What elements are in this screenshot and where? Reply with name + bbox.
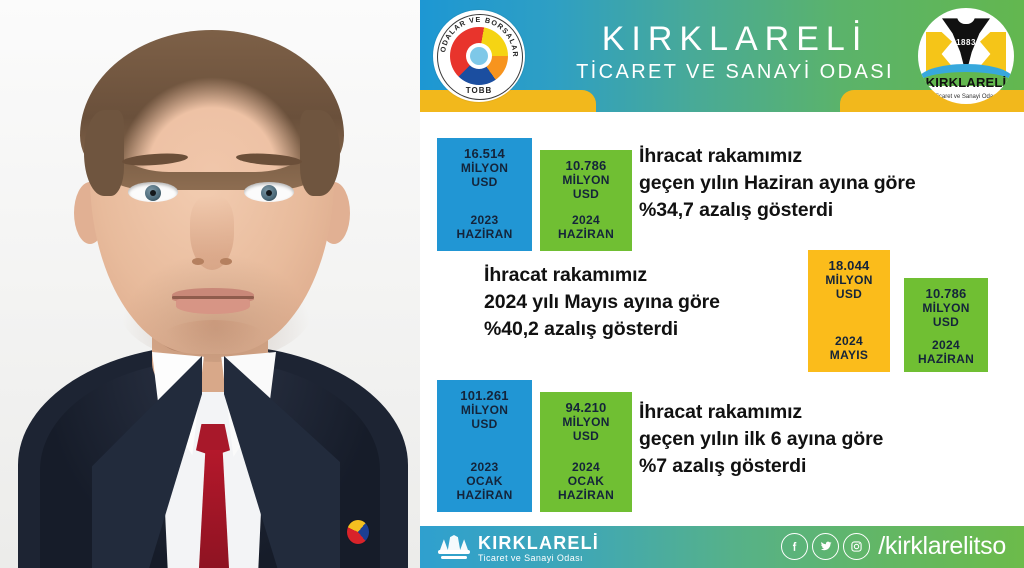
- bar-period-group: 2024 OCAK HAZİRAN: [558, 460, 614, 502]
- page-title: KIRKLARELİ: [560, 20, 910, 58]
- bar-period-group: 2024 MAYIS: [830, 334, 868, 362]
- hair-temple-right: [300, 110, 340, 196]
- bar-period-month: HAZİRAN: [456, 227, 512, 241]
- emblem-subtitle: Ticaret ve Sanayi Odası: [918, 94, 1014, 100]
- page-subtitle: TİCARET VE SANAYİ ODASI: [560, 60, 910, 84]
- footer-logo-bar-top: [438, 550, 470, 554]
- bar-unit-line1: MİLYON: [825, 273, 872, 287]
- bar-value-group: 10.786 MİLYON USD: [562, 158, 609, 201]
- bar-period-year: 2024: [932, 338, 960, 352]
- bar-value-group: 101.261 MİLYON USD: [460, 388, 508, 431]
- emblem-year: 1883: [942, 38, 990, 47]
- bar-2024-haziran-2: 10.786 MİLYON USD 2024 HAZİRAN: [904, 278, 988, 372]
- bar-amount: 16.514: [464, 146, 505, 161]
- bar-2023-ocak-haziran: 101.261 MİLYON USD 2023 OCAK HAZİRAN: [437, 380, 532, 512]
- bar-unit-line2: USD: [471, 417, 497, 431]
- footer-logo-crown: [440, 535, 468, 550]
- bar-period-month: HAZİRAN: [558, 227, 614, 241]
- bar-unit-line1: MİLYON: [922, 301, 969, 315]
- blurb-mayis-haziran: İhracat rakamımız 2024 yılı Mayıs ayına …: [484, 262, 720, 343]
- bar-unit-line1: MİLYON: [461, 403, 508, 417]
- bar-amount: 18.044: [829, 258, 870, 273]
- footer-logo-icon: [438, 533, 470, 561]
- bar-period-year: 2023: [471, 213, 499, 227]
- page-footer: KIRKLARELİ Ticaret ve Sanayi Odası /kirk…: [420, 526, 1024, 568]
- bar-period-group: 2023 HAZİRAN: [456, 213, 512, 241]
- blurb-line-2: geçen yılın ilk 6 ayına göre: [639, 426, 883, 453]
- blurb-line-1: İhracat rakamımız: [639, 399, 883, 426]
- bar-period-month-start: OCAK: [568, 474, 605, 488]
- emblem-name: KIRKLARELİ: [918, 75, 1014, 90]
- bar-amount: 94.210: [566, 400, 607, 415]
- bar-period-year: 2024: [572, 460, 600, 474]
- blurb-line-3: %34,7 azalış gösterdi: [639, 197, 916, 224]
- bar-period-group: 2024 HAZİRAN: [558, 213, 614, 241]
- bar-value-group: 94.210 MİLYON USD: [562, 400, 609, 443]
- bar-period-year: 2024: [835, 334, 863, 348]
- bar-period-month: HAZİRAN: [918, 352, 974, 366]
- blurb-ilk-alti-ay: İhracat rakamımız geçen yılın ilk 6 ayın…: [639, 399, 883, 480]
- nostril-left: [192, 258, 204, 265]
- bar-unit-line1: MİLYON: [461, 161, 508, 175]
- social-handle[interactable]: /kirklarelitso: [878, 532, 1006, 560]
- facebook-icon[interactable]: [781, 533, 808, 560]
- nostril-right: [220, 258, 232, 265]
- page-header: TÜRKİYE ODALAR VE BORSALAR BİRLİĞİ TOBB …: [420, 0, 1024, 112]
- bar-amount: 10.786: [926, 286, 967, 301]
- bar-unit-line2: USD: [573, 187, 599, 201]
- bar-period-group: 2023 OCAK HAZİRAN: [456, 460, 512, 502]
- blurb-line-2: geçen yılın Haziran ayına göre: [639, 170, 916, 197]
- blurb-line-3: %7 azalış gösterdi: [639, 453, 883, 480]
- mouth-line: [172, 296, 254, 299]
- tobb-logo: TÜRKİYE ODALAR VE BORSALAR BİRLİĞİ TOBB: [433, 10, 525, 102]
- blurb-line-3: %40,2 azalış gösterdi: [484, 316, 720, 343]
- bar-unit-line1: MİLYON: [562, 173, 609, 187]
- bar-2024-mayis: 18.044 MİLYON USD 2024 MAYIS: [808, 250, 890, 372]
- blurb-line-1: İhracat rakamımız: [484, 262, 720, 289]
- content-panel: TÜRKİYE ODALAR VE BORSALAR BİRLİĞİ TOBB …: [420, 0, 1024, 568]
- bar-unit-line1: MİLYON: [562, 415, 609, 429]
- tobb-abbreviation: TOBB: [433, 86, 525, 95]
- footer-logo-title: KIRKLARELİ: [478, 534, 599, 553]
- bar-period-month: MAYIS: [830, 348, 868, 362]
- footer-logo-bar-bottom: [441, 556, 467, 559]
- bar-amount: 101.261: [460, 388, 508, 403]
- bar-unit-line2: USD: [573, 429, 599, 443]
- blurb-haziran-yillik: İhracat rakamımız geçen yılın Haziran ay…: [639, 143, 916, 224]
- hair-temple-left: [84, 110, 124, 196]
- bar-unit-line2: USD: [836, 287, 862, 301]
- blurb-line-1: İhracat rakamımız: [639, 143, 916, 170]
- twitter-icon[interactable]: [812, 533, 839, 560]
- portrait-photo: [0, 0, 420, 568]
- instagram-icon[interactable]: [843, 533, 870, 560]
- pupil-left: [150, 190, 156, 196]
- blurb-line-2: 2024 yılı Mayıs ayına göre: [484, 289, 720, 316]
- pupil-right: [266, 190, 272, 196]
- bar-2024-haziran: 10.786 MİLYON USD 2024 HAZİRAN: [540, 150, 632, 251]
- lapel-pin-icon: [347, 520, 369, 544]
- chin: [162, 320, 266, 356]
- header-title-group: KIRKLARELİ TİCARET VE SANAYİ ODASI: [560, 20, 910, 84]
- infographic-canvas: TÜRKİYE ODALAR VE BORSALAR BİRLİĞİ TOBB …: [0, 0, 1024, 568]
- footer-logo-subtitle: Ticaret ve Sanayi Odası: [478, 553, 599, 564]
- bar-amount: 10.786: [566, 158, 607, 173]
- bar-value-group: 16.514 MİLYON USD: [461, 146, 508, 189]
- bar-2024-ocak-haziran: 94.210 MİLYON USD 2024 OCAK HAZİRAN: [540, 392, 632, 512]
- bar-value-group: 10.786 MİLYON USD: [922, 286, 969, 329]
- chamber-emblem: 1883 KIRKLARELİ Ticaret ve Sanayi Odası: [918, 8, 1014, 104]
- bar-period-month-start: OCAK: [466, 474, 503, 488]
- bar-2023-haziran: 16.514 MİLYON USD 2023 HAZİRAN: [437, 138, 532, 251]
- bar-period-group: 2024 HAZİRAN: [918, 338, 974, 366]
- bar-period-month-end: HAZİRAN: [558, 488, 614, 502]
- bar-value-group: 18.044 MİLYON USD: [825, 258, 872, 301]
- bar-period-year: 2023: [471, 460, 499, 474]
- footer-logo-text: KIRKLARELİ Ticaret ve Sanayi Odası: [478, 534, 599, 564]
- bar-period-month-end: HAZİRAN: [456, 488, 512, 502]
- tobb-wheel-core: [470, 47, 488, 65]
- bar-period-year: 2024: [572, 213, 600, 227]
- social-links[interactable]: /kirklarelitso: [781, 532, 1006, 560]
- bar-unit-line2: USD: [933, 315, 959, 329]
- lower-lip: [176, 298, 250, 314]
- bar-unit-line2: USD: [471, 175, 497, 189]
